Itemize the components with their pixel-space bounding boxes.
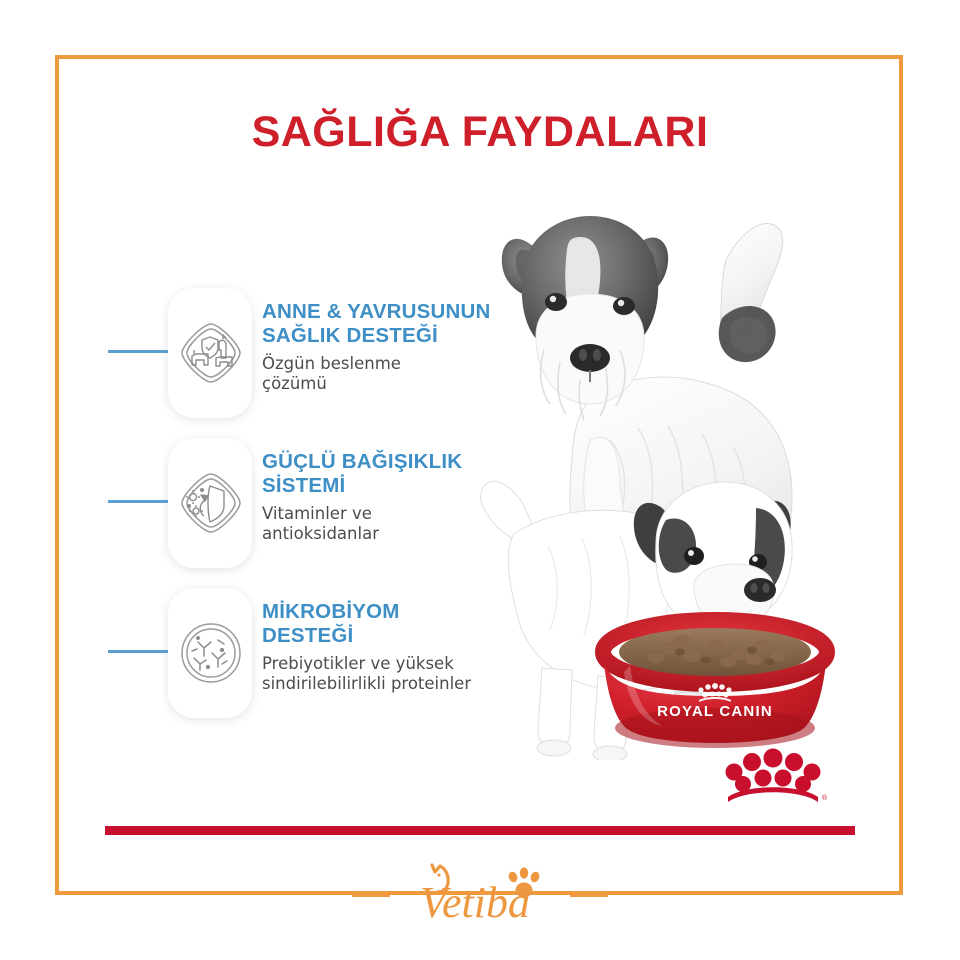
red-divider-bar bbox=[105, 826, 855, 835]
benefit-description: Prebiyotikler ve yüksek sindirilebilirli… bbox=[262, 654, 524, 694]
benefit-text-block: MİKROBİYOM DESTEĞİ Prebiyotikler ve yüks… bbox=[262, 600, 524, 694]
benefit-title: GÜÇLÜ BAĞIŞIKLIK SİSTEMİ bbox=[262, 450, 524, 498]
vetiba-wordmark: Vetiba bbox=[420, 878, 530, 927]
benefit-icon-card bbox=[168, 438, 252, 568]
benefit-item-maternal-health[interactable]: ANNE & YAVRUSUNUN SAĞLIK DESTEĞİ Özgün b… bbox=[100, 288, 520, 438]
immunity-shield-icon bbox=[178, 470, 244, 536]
benefits-list: ANNE & YAVRUSUNUN SAĞLIK DESTEĞİ Özgün b… bbox=[100, 288, 520, 738]
footer: Vetiba bbox=[0, 855, 960, 935]
benefit-text-block: GÜÇLÜ BAĞIŞIKLIK SİSTEMİ Vitaminler ve a… bbox=[262, 450, 524, 544]
connector-line bbox=[108, 650, 170, 653]
connector-line bbox=[108, 500, 170, 503]
benefit-item-microbiome[interactable]: MİKROBİYOM DESTEĞİ Prebiyotikler ve yüks… bbox=[100, 588, 520, 738]
benefit-title: MİKROBİYOM DESTEĞİ bbox=[262, 600, 524, 648]
royal-canin-crown-logo: ® bbox=[718, 748, 828, 810]
benefit-description: Özgün beslenme çözümü bbox=[262, 354, 524, 394]
vetiba-logo[interactable]: Vetiba bbox=[398, 855, 568, 935]
microbiome-bacteria-icon bbox=[178, 620, 244, 686]
benefit-icon-card bbox=[168, 288, 252, 418]
benefit-icon-card bbox=[168, 588, 252, 718]
benefit-item-immunity[interactable]: GÜÇLÜ BAĞIŞIKLIK SİSTEMİ Vitaminler ve a… bbox=[100, 438, 520, 588]
footer-rule-right bbox=[570, 893, 608, 897]
promo-banner: SAĞLIĞA FAYDALARI bbox=[0, 0, 960, 960]
mother-and-puppy-health-shield-icon bbox=[178, 320, 244, 386]
benefit-description: Vitaminler ve antioksidanlar bbox=[262, 504, 524, 544]
page-title: SAĞLIĞA FAYDALARI bbox=[0, 108, 960, 157]
registered-trademark-mark: ® bbox=[822, 794, 828, 802]
dog-and-puppy-with-food-bowl-photo: ROYAL CANIN bbox=[470, 190, 900, 760]
connector-line bbox=[108, 350, 170, 353]
bowl-brand-text: ROYAL CANIN bbox=[657, 703, 773, 720]
benefit-text-block: ANNE & YAVRUSUNUN SAĞLIK DESTEĞİ Özgün b… bbox=[262, 300, 524, 394]
benefit-title: ANNE & YAVRUSUNUN SAĞLIK DESTEĞİ bbox=[262, 300, 524, 348]
footer-rule-left bbox=[352, 893, 390, 897]
